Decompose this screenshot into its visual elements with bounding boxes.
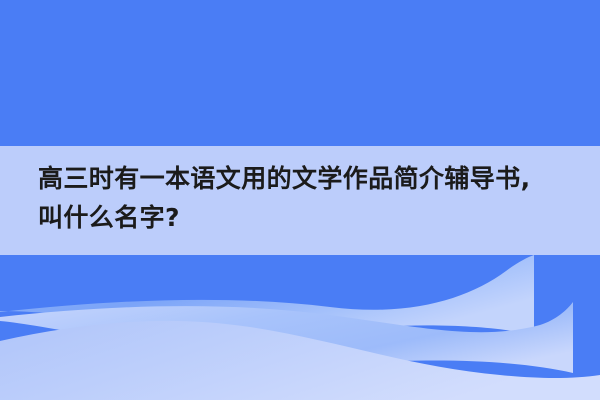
wave-decoration-footer	[0, 255, 600, 400]
blue-header-panel	[0, 0, 600, 146]
wave-decoration-graphic	[0, 255, 600, 400]
question-card: 高三时有一本语文用的文学作品简介辅导书, 叫什么名字?	[0, 0, 600, 400]
question-text: 高三时有一本语文用的文学作品简介辅导书, 叫什么名字?	[38, 159, 583, 237]
